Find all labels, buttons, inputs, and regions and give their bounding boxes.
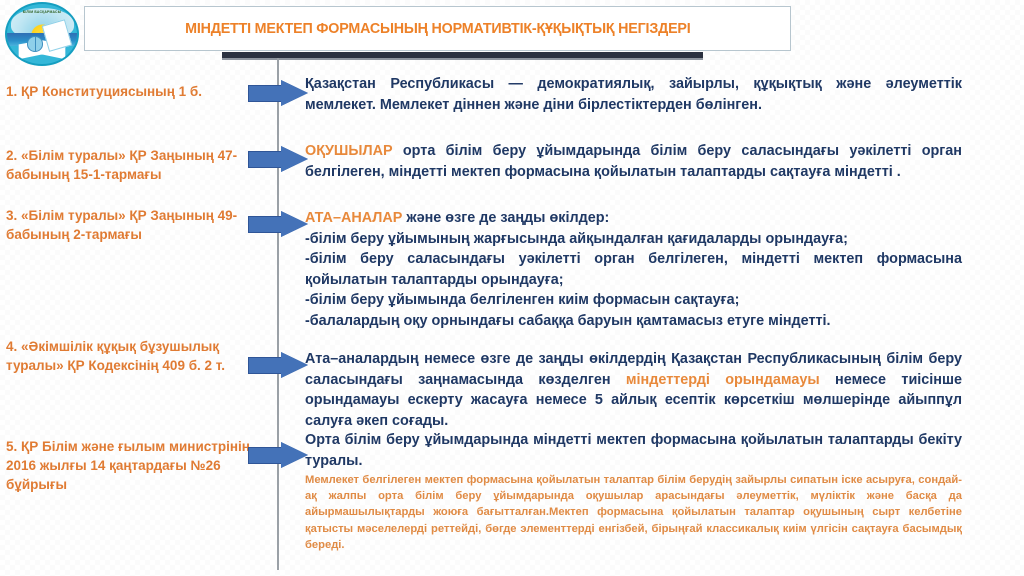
block-3-item-4: -балалардың оқу орнындағы сабаққа баруын… [305, 311, 962, 332]
arrow-2 [248, 146, 308, 173]
content-block-3: АТА–АНАЛАР және өзге де заңды өкілдер: -… [305, 208, 962, 331]
block-3-highlight: АТА–АНАЛАР [305, 210, 402, 226]
reference-item-1: 1. ҚР Конституциясының 1 б. [6, 82, 256, 101]
reference-item-4: 4. «Әкімшілік құқық бұзушылық туралы» ҚР… [6, 337, 256, 375]
content-block-5: Орта білім беру ұйымдарында міндетті мек… [305, 430, 962, 471]
reference-item-2: 2. «Білім туралы» ҚР Заңының 47-бабының … [6, 146, 256, 184]
arrow-1 [248, 80, 308, 107]
timeline-rule [277, 58, 279, 570]
block-4-highlight: міндеттерді орындамауы [626, 372, 820, 388]
content-block-4: Ата–аналардың немесе өзге де заңды өкілд… [305, 349, 962, 431]
arrow-4 [248, 352, 308, 379]
content-block-1: Қазақстан Республикасы — демократиялық, … [305, 74, 962, 115]
block-1-text: Қазақстан Республикасы — демократиялық, … [305, 76, 962, 113]
logo-oval: БІЛІМ БАСҚАРМАСЫ [5, 2, 79, 66]
block-3-item-3: -білім беру ұйымында белгіленген киім фо… [305, 290, 962, 311]
title-banner: МІНДЕТТІ МЕКТЕП ФОРМАСЫНЫҢ НОРМАТИВТІК-Қ… [84, 6, 791, 51]
arrow-3 [248, 211, 308, 238]
slide-canvas: БІЛІМ БАСҚАРМАСЫ МІНДЕТТІ МЕКТЕП ФОРМАСЫ… [0, 0, 1024, 576]
arrow-5 [248, 442, 308, 469]
footnote-paragraph: Мемлекет белгілеген мектеп формасына қой… [305, 472, 962, 553]
reference-item-5: 5. ҚР Білім және ғылым министрінің 2016 … [6, 437, 256, 494]
block-3-item-2: -білім беру саласындағы уәкілетті орган … [305, 249, 962, 290]
logo-ring-text: БІЛІМ БАСҚАРМАСЫ [7, 10, 77, 14]
block-2-highlight: ОҚУШЫЛАР [305, 143, 393, 159]
block-3-item-1: -білім беру ұйымының жарғысында айқындал… [305, 229, 962, 250]
logo-globe-icon [27, 36, 43, 51]
block-3-heading-rest: және өзге де заңды өкілдер: [402, 210, 609, 226]
block-2-text: орта білім беру ұйымдарында білім беру с… [305, 143, 962, 180]
title-underline [222, 52, 703, 60]
page-title: МІНДЕТТІ МЕКТЕП ФОРМАСЫНЫҢ НОРМАТИВТІК-Қ… [185, 20, 690, 37]
organization-logo: БІЛІМ БАСҚАРМАСЫ [5, 2, 79, 66]
reference-item-3: 3. «Білім туралы» ҚР Заңының 49-бабының … [6, 206, 256, 244]
content-block-2: ОҚУШЫЛАР орта білім беру ұйымдарында біл… [305, 141, 962, 182]
block-5-text: Орта білім беру ұйымдарында міндетті мек… [305, 432, 962, 469]
